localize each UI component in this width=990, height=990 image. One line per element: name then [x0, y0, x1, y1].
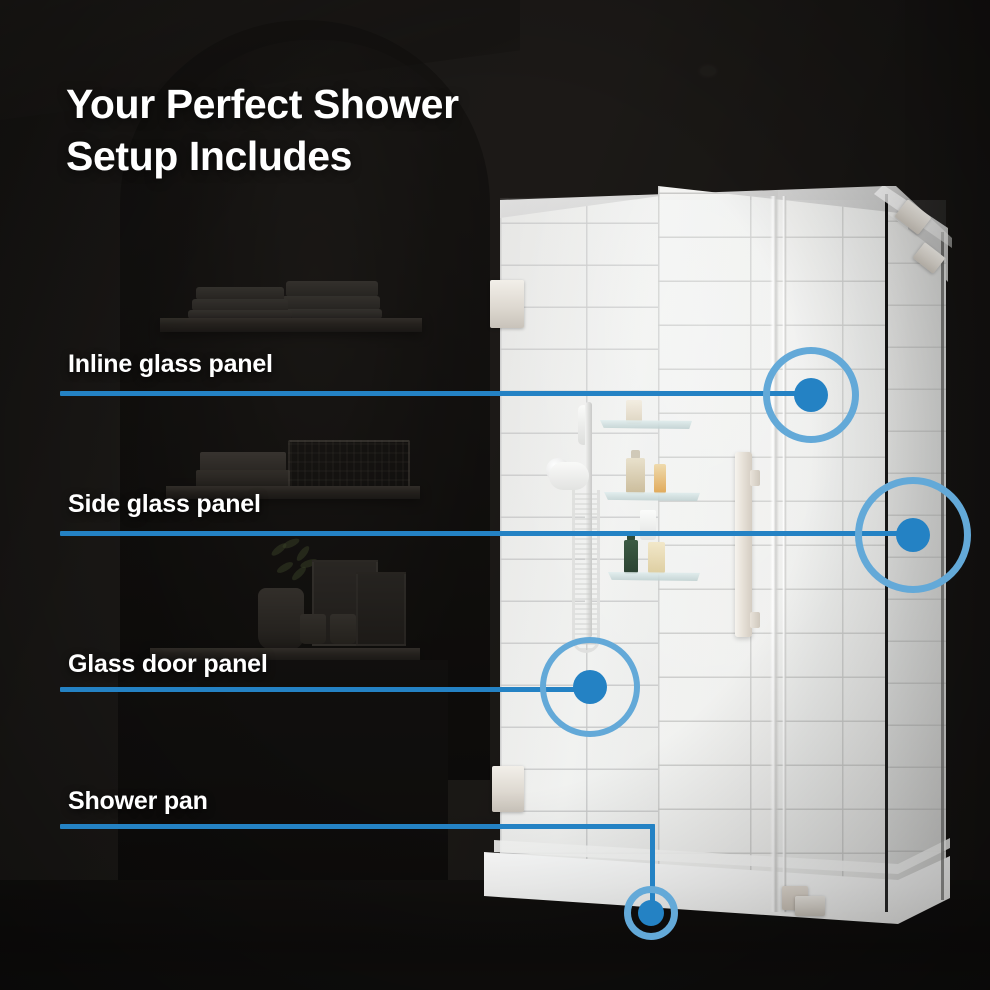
callout-leader-line-shower-pan	[60, 824, 655, 829]
callout-label-inline-glass-panel: Inline glass panel	[68, 350, 273, 379]
handle-mount-bottom	[750, 612, 760, 628]
marker-dot	[794, 378, 828, 412]
panel-clamp-bottom	[795, 896, 825, 916]
callout-marker-inline-glass-panel[interactable]	[763, 347, 859, 443]
callout-marker-glass-door-panel[interactable]	[540, 637, 640, 737]
marker-dot	[896, 518, 930, 552]
marker-dot	[573, 670, 607, 704]
glass-mullion	[770, 196, 779, 912]
callout-marker-shower-pan[interactable]	[624, 886, 678, 940]
handle-mount-top	[750, 470, 760, 486]
callout-leader-line-glass-door-panel	[60, 687, 590, 692]
callout-marker-side-glass-panel[interactable]	[855, 477, 971, 593]
callout-leader-line-inline-glass-panel	[60, 391, 812, 396]
marker-dot	[638, 900, 664, 926]
page-title: Your Perfect Shower Setup Includes	[66, 78, 626, 183]
door-hinge-bottom	[492, 766, 524, 812]
door-hinge-top	[490, 280, 524, 328]
callout-label-glass-door-panel: Glass door panel	[68, 650, 268, 679]
callout-label-shower-pan: Shower pan	[68, 787, 208, 816]
glass-mullion	[782, 196, 787, 912]
callout-leader-line-side-glass-panel	[60, 531, 913, 536]
callout-label-side-glass-panel: Side glass panel	[68, 490, 261, 519]
shower-setup-infographic: Your Perfect Shower Setup Includes Inlin…	[0, 0, 990, 990]
